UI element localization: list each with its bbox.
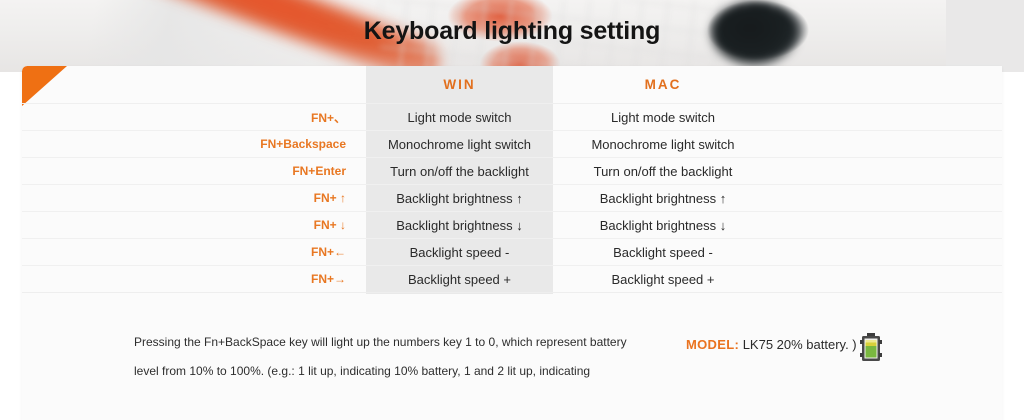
mac-action: Backlight speed +: [553, 272, 773, 287]
battery-icon: [860, 333, 882, 361]
battery-note: Pressing the Fn+BackSpace key will light…: [134, 328, 694, 386]
table-row: FN+ ↓ Backlight brightness ↓ Backlight b…: [22, 212, 1002, 239]
win-action: Light mode switch: [366, 110, 553, 125]
shortcut-key: FN+、: [22, 109, 366, 126]
table-header-row: WIN MAC: [22, 66, 1002, 104]
header-cell-win: WIN: [366, 77, 553, 92]
model-label: MODEL:: [686, 337, 739, 352]
shortcut-key: FN+Backspace: [22, 137, 366, 151]
shortcut-key: FN+ ↑: [22, 191, 366, 205]
page-title: Keyboard lighting setting: [0, 17, 1024, 46]
mac-action: Backlight brightness ↓: [553, 218, 773, 233]
win-action: Backlight speed -: [366, 245, 553, 260]
shortcut-key: FN+ ↓: [22, 218, 366, 232]
mac-action: Light mode switch: [553, 110, 773, 125]
mac-action: Turn on/off the backlight: [553, 164, 773, 179]
table-row: FN+→ Backlight speed + Backlight speed +: [22, 266, 1002, 293]
shortcut-table: WIN MAC FN+、 Light mode switch Light mod…: [22, 66, 1002, 293]
mac-action: Backlight brightness ↑: [553, 191, 773, 206]
shortcut-key: FN+←: [22, 245, 366, 259]
model-overlay: MODEL: LK75 20% battery. ): [686, 337, 857, 352]
table-row: FN+ ↑ Backlight brightness ↑ Backlight b…: [22, 185, 1002, 212]
shortcut-key: FN+Enter: [22, 164, 366, 178]
mac-action: Monochrome light switch: [553, 137, 773, 152]
win-action: Turn on/off the backlight: [366, 164, 553, 179]
shortcut-key: FN+→: [22, 272, 366, 286]
table-row: FN+Backspace Monochrome light switch Mon…: [22, 131, 1002, 158]
battery-note-line-1: Pressing the Fn+BackSpace key will light…: [134, 328, 694, 357]
shortcut-card: WIN MAC FN+、 Light mode switch Light mod…: [22, 66, 1002, 420]
table-row: FN+Enter Turn on/off the backlight Turn …: [22, 158, 1002, 185]
table-row: FN+、 Light mode switch Light mode switch: [22, 104, 1002, 131]
win-action: Backlight brightness ↑: [366, 191, 553, 206]
table-row: FN+← Backlight speed - Backlight speed -: [22, 239, 1002, 266]
header-cell-mac: MAC: [553, 77, 773, 92]
win-action: Monochrome light switch: [366, 137, 553, 152]
mac-action: Backlight speed -: [553, 245, 773, 260]
win-action: Backlight speed +: [366, 272, 553, 287]
model-value: LK75 20% battery. ): [743, 337, 857, 352]
battery-note-line-2: level from 10% to 100%. (e.g.: 1 lit up,…: [134, 357, 694, 386]
win-action: Backlight brightness ↓: [366, 218, 553, 233]
